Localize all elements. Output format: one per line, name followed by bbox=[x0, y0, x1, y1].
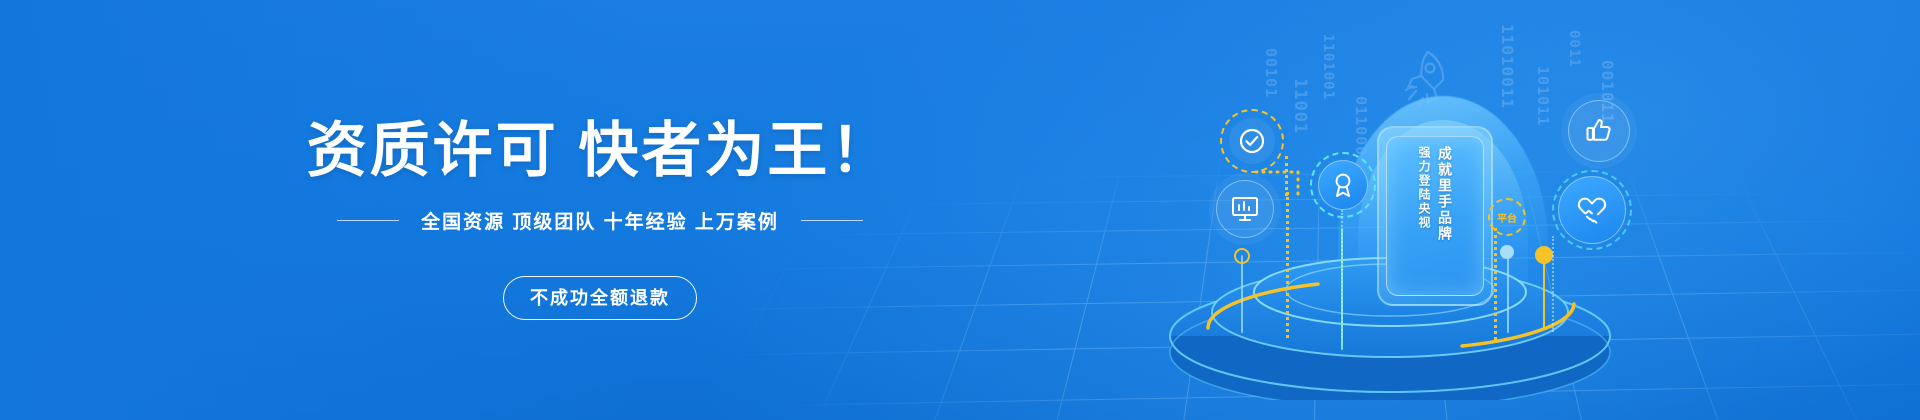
cta-row: 不成功全额退款 bbox=[0, 276, 1200, 320]
monitor-chart-icon[interactable] bbox=[1216, 180, 1274, 238]
headline: 资质许可 快者为王！ bbox=[0, 118, 1200, 184]
dotted-connector-pale bbox=[1341, 210, 1343, 338]
stem-dot-yellow bbox=[1234, 248, 1250, 264]
stem-yellow bbox=[1543, 258, 1545, 330]
refund-guarantee-button[interactable]: 不成功全额退款 bbox=[503, 276, 697, 320]
copy-block: 资质许可 快者为王！ 全国资源 顶级团队 十年经验 上万案例 不成功全额退款 bbox=[0, 0, 1200, 420]
subtitle-rule-left bbox=[337, 220, 399, 221]
card-secondary-text: 强力登陆央视 bbox=[1417, 146, 1431, 230]
check-circle-icon[interactable] bbox=[1229, 118, 1275, 164]
binary-text: 101011 bbox=[1534, 66, 1552, 126]
binary-text: 1101001 bbox=[1320, 34, 1336, 100]
handshake-heart-icon[interactable] bbox=[1558, 176, 1626, 244]
binary-text: 0011 bbox=[1566, 30, 1582, 68]
dashed-ring bbox=[1220, 109, 1284, 173]
binary-text: 00101 bbox=[1262, 48, 1280, 98]
card-primary-text: 成就里手品牌 bbox=[1437, 146, 1453, 242]
stem-chart bbox=[1241, 255, 1243, 333]
subtitle: 全国资源 顶级团队 十年经验 上万案例 bbox=[421, 207, 779, 234]
showcase-card-text: 成就里手品牌 强力登陆央视 bbox=[1386, 136, 1484, 296]
promo-banner: 00101 11001 1101001 011000 11010011 1010… bbox=[0, 0, 1920, 420]
dotted-connector bbox=[1286, 192, 1289, 338]
dashed-ring-cyan bbox=[1310, 152, 1376, 218]
dotted-connector bbox=[1494, 228, 1497, 340]
binary-text: 11010011 bbox=[1498, 24, 1517, 109]
dotted-connector-pale bbox=[1552, 236, 1554, 332]
stem-dot-yellow-filled bbox=[1535, 246, 1553, 264]
binary-text: 11001 bbox=[1290, 78, 1310, 134]
stem-light bbox=[1507, 255, 1509, 333]
dashed-ring-cyan bbox=[1552, 170, 1632, 250]
award-medal-icon[interactable] bbox=[1318, 160, 1368, 210]
stem-dot-grey bbox=[1500, 245, 1514, 259]
subtitle-row: 全国资源 顶级团队 十年经验 上万案例 bbox=[0, 207, 1200, 234]
monitor-glyph bbox=[1228, 192, 1262, 226]
platform-tag-label: 平台 bbox=[1497, 210, 1517, 225]
thumbs-up-glyph bbox=[1582, 114, 1616, 148]
thumbs-up-icon[interactable] bbox=[1568, 100, 1630, 162]
subtitle-rule-right bbox=[801, 220, 863, 221]
platform-tag[interactable]: 平台 bbox=[1488, 198, 1526, 236]
